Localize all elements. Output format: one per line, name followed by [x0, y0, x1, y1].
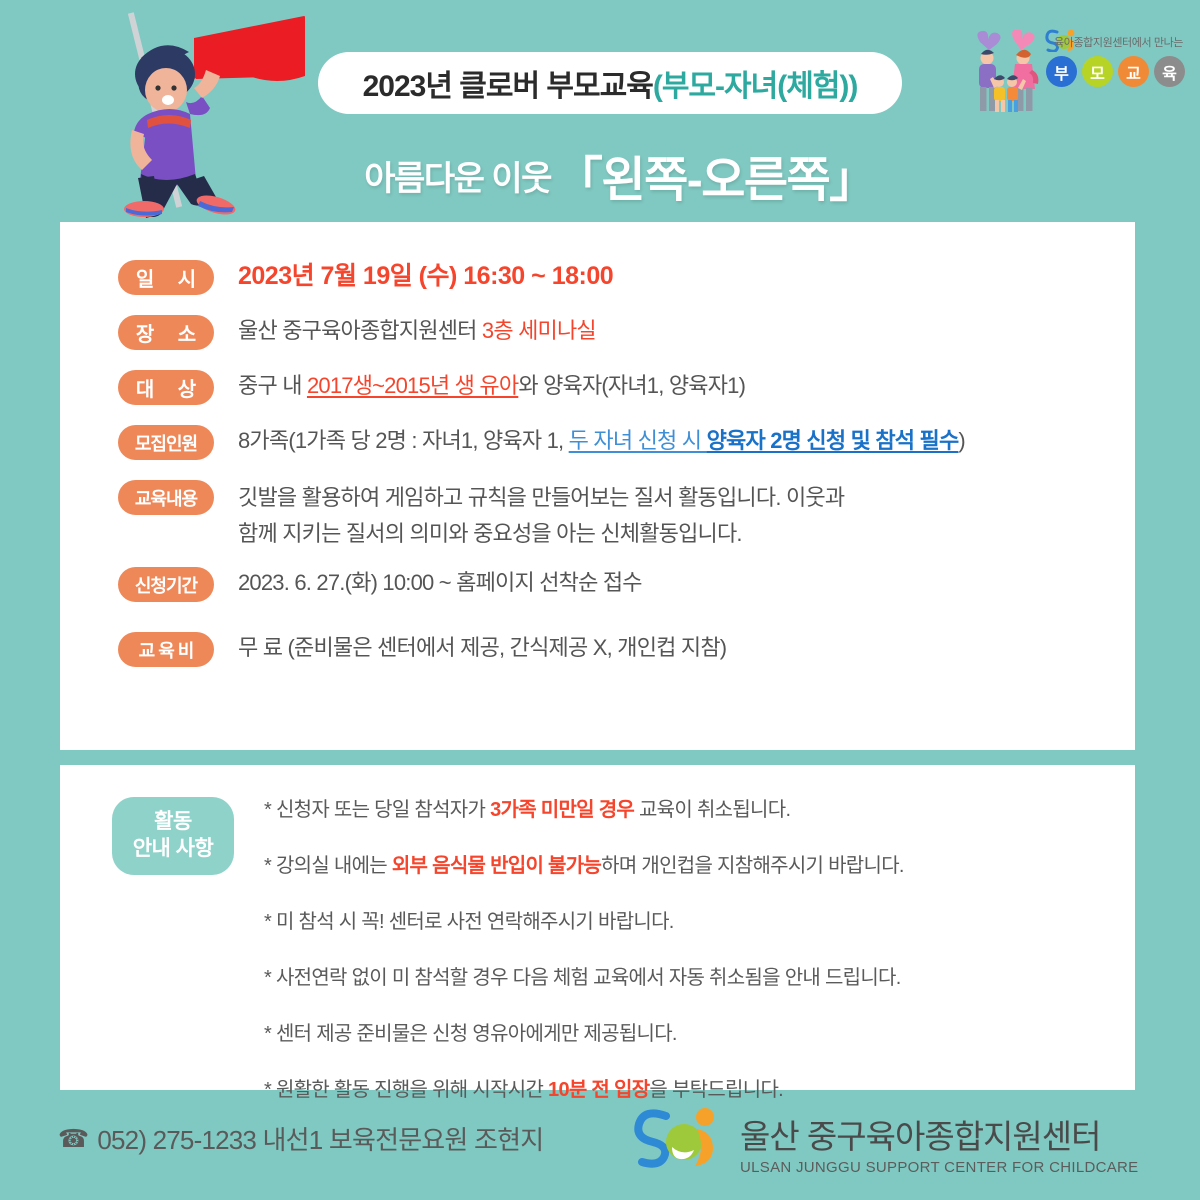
- badge-circle-1: 모: [1082, 56, 1113, 87]
- headline-big: 「왼쪽-오른쪽」: [555, 140, 876, 210]
- notices-list: * 신청자 또는 당일 참석자가 3가족 미만일 경우 교육이 취소됩니다. *…: [264, 793, 904, 1102]
- headline-small: 아름다운 이웃: [364, 151, 551, 200]
- notice-item: * 미 참석 시 꼭! 센터로 사전 연락해주시기 바랍니다.: [264, 905, 904, 934]
- notice-3-prefix: * 사전연락 없이 미 참석할 경우 다음 체험 교육에서 자동 취소됨을 안내…: [264, 967, 901, 989]
- row-value-content: 깃발을 활용하여 게임하고 규칙을 만들어보는 질서 활동입니다. 이웃과 함께…: [238, 478, 844, 551]
- info-row-location: 장 소 울산 중구육아종합지원센터 3층 세미나실: [118, 313, 1135, 350]
- target-prefix: 중구 내: [238, 373, 307, 398]
- capacity-suffix: ): [958, 428, 965, 453]
- row-label-application-period: 신청기간: [118, 567, 214, 602]
- notices-badge-line-2: 안내 사항: [133, 836, 214, 863]
- organization-name: 울산 중구육아종합지원센터 ULSAN JUNGGU SUPPORT CENTE…: [740, 1110, 1138, 1176]
- row-label-datetime: 일 시: [118, 260, 214, 295]
- row-label-fee: 교 육 비: [118, 632, 214, 667]
- activity-notices-card: 활동 안내 사항 * 신청자 또는 당일 참석자가 3가족 미만일 경우 교육이…: [60, 765, 1135, 1090]
- badge-circle-group: 부 모 교 육: [1046, 56, 1185, 87]
- program-title-suffix: (부모-자녀(체험)): [653, 61, 858, 105]
- badge-circle-3: 육: [1154, 56, 1185, 87]
- capacity-prefix: 8가족(1가족 당 2명 : 자녀1, 양육자 1,: [238, 428, 569, 453]
- program-title-pill: 2023년 클로버 부모교육(부모-자녀(체험)): [318, 52, 902, 114]
- content-line-2: 함께 지키는 질서의 의미와 중요성을 아는 신체활동입니다.: [238, 516, 844, 552]
- target-suffix: 와 양육자(자녀1, 양육자1): [518, 373, 745, 398]
- notice-item: * 신청자 또는 당일 참석자가 3가족 미만일 경우 교육이 취소됩니다.: [264, 793, 904, 822]
- row-value-fee: 무 료 (준비물은 센터에서 제공, 간식제공 X, 개인컵 지참): [238, 630, 726, 664]
- row-value-datetime: 2023년 7월 19일 (수) 16:30 ~ 18:00: [238, 258, 613, 294]
- info-row-application-period: 신청기간 2023. 6. 27.(화) 10:00 ~ 홈페이지 선착순 접수: [118, 565, 1135, 602]
- location-highlight: 3층 세미나실: [482, 318, 596, 343]
- telephone-icon: ☎: [58, 1124, 88, 1154]
- organization-name-kr: 울산 중구육아종합지원센터: [740, 1110, 1138, 1158]
- row-value-application-period: 2023. 6. 27.(화) 10:00 ~ 홈페이지 선착순 접수: [238, 565, 642, 599]
- badge-circle-2: 교: [1118, 56, 1149, 87]
- capacity-note: 두 자녀 신청 시: [569, 428, 707, 453]
- info-row-target: 대 상 중구 내 2017생~2015년 생 유아와 양육자(자녀1, 양육자1…: [118, 368, 1135, 405]
- sc-center-logo: [632, 1106, 724, 1168]
- location-prefix: 울산 중구육아종합지원센터: [238, 318, 482, 343]
- notice-1-highlight: 외부 음식물 반입이 불가능: [392, 855, 601, 877]
- content-line-1: 깃발을 활용하여 게임하고 규칙을 만들어보는 질서 활동입니다. 이웃과: [238, 480, 844, 516]
- info-row-capacity: 모집인원 8가족(1가족 당 2명 : 자녀1, 양육자 1, 두 자녀 신청 …: [118, 423, 1135, 460]
- notice-item: * 강의실 내에는 외부 음식물 반입이 불가능하며 개인컵을 지참해주시기 바…: [264, 849, 904, 878]
- info-row-fee: 교 육 비 무 료 (준비물은 센터에서 제공, 간식제공 X, 개인컵 지참): [118, 630, 1135, 667]
- info-row-datetime: 일 시 2023년 7월 19일 (수) 16:30 ~ 18:00: [118, 258, 1135, 295]
- notices-badge-line-1: 활동: [154, 809, 192, 836]
- poster-header: 2023년 클로버 부모교육(부모-자녀(체험)) 아름다운 이웃 「왼쪽-오른…: [0, 0, 1200, 218]
- row-value-capacity: 8가족(1가족 당 2명 : 자녀1, 양육자 1, 두 자녀 신청 시 양육자…: [238, 423, 965, 457]
- notice-0-highlight: 3가족 미만일 경우: [490, 799, 634, 821]
- row-label-location: 장 소: [118, 315, 214, 350]
- notice-0-suffix: 교육이 취소됩니다.: [634, 799, 790, 821]
- info-row-content: 교육내용 깃발을 활용하여 게임하고 규칙을 만들어보는 질서 활동입니다. 이…: [118, 478, 1135, 551]
- badge-circle-0: 부: [1046, 56, 1077, 87]
- row-label-content: 교육내용: [118, 480, 214, 515]
- notice-0-prefix: * 신청자 또는 당일 참석자가: [264, 799, 490, 821]
- notice-item: * 센터 제공 준비물은 신청 영유아에게만 제공됩니다.: [264, 1017, 904, 1046]
- notice-2-prefix: * 미 참석 시 꼭! 센터로 사전 연락해주시기 바랍니다.: [264, 911, 674, 933]
- notice-1-prefix: * 강의실 내에는: [264, 855, 392, 877]
- poster-footer: ☎ 052) 275-1233 내선1 보육전문요원 조현지 울산 중구육아종합…: [0, 1098, 1200, 1198]
- notice-item: * 사전연락 없이 미 참석할 경우 다음 체험 교육에서 자동 취소됨을 안내…: [264, 961, 904, 990]
- contact-info: ☎ 052) 275-1233 내선1 보육전문요원 조현지: [58, 1120, 543, 1157]
- notice-4-prefix: * 센터 제공 준비물은 신청 영유아에게만 제공됩니다.: [264, 1023, 677, 1045]
- poster: 2023년 클로버 부모교육(부모-자녀(체험)) 아름다운 이웃 「왼쪽-오른…: [0, 0, 1200, 1200]
- notice-1-suffix: 하며 개인컵을 지참해주시기 바랍니다.: [601, 855, 904, 877]
- capacity-highlight: 양육자 2명 신청 및 참석 필수: [707, 428, 959, 453]
- program-details-card: 일 시 2023년 7월 19일 (수) 16:30 ~ 18:00 장 소 울…: [60, 222, 1135, 750]
- program-title-prefix: 2023년 클로버 부모교육: [363, 61, 653, 105]
- row-label-capacity: 모집인원: [118, 425, 214, 460]
- contact-phone-text: 052) 275-1233 내선1 보육전문요원 조현지: [97, 1120, 543, 1157]
- organization-name-en: ULSAN JUNGGU SUPPORT CENTER FOR CHILDCAR…: [740, 1159, 1138, 1176]
- family-illustration: [970, 30, 1048, 114]
- parent-education-badge: 육아종합지원센터에서 만나는 부 모 교 육: [970, 26, 1182, 118]
- page-title: 아름다운 이웃 「왼쪽-오른쪽」: [300, 140, 940, 210]
- row-value-target: 중구 내 2017생~2015년 생 유아와 양육자(자녀1, 양육자1): [238, 368, 745, 402]
- notices-label-badge: 활동 안내 사항: [112, 797, 234, 875]
- badge-tagline: 육아종합지원센터에서 만나는: [1054, 34, 1183, 50]
- target-highlight: 2017생~2015년 생 유아: [307, 373, 518, 398]
- info-row-list: 일 시 2023년 7월 19일 (수) 16:30 ~ 18:00 장 소 울…: [60, 222, 1135, 667]
- row-label-target: 대 상: [118, 370, 214, 405]
- notices-wrap: 활동 안내 사항 * 신청자 또는 당일 참석자가 3가족 미만일 경우 교육이…: [60, 765, 1135, 1102]
- row-value-location: 울산 중구육아종합지원센터 3층 세미나실: [238, 313, 596, 347]
